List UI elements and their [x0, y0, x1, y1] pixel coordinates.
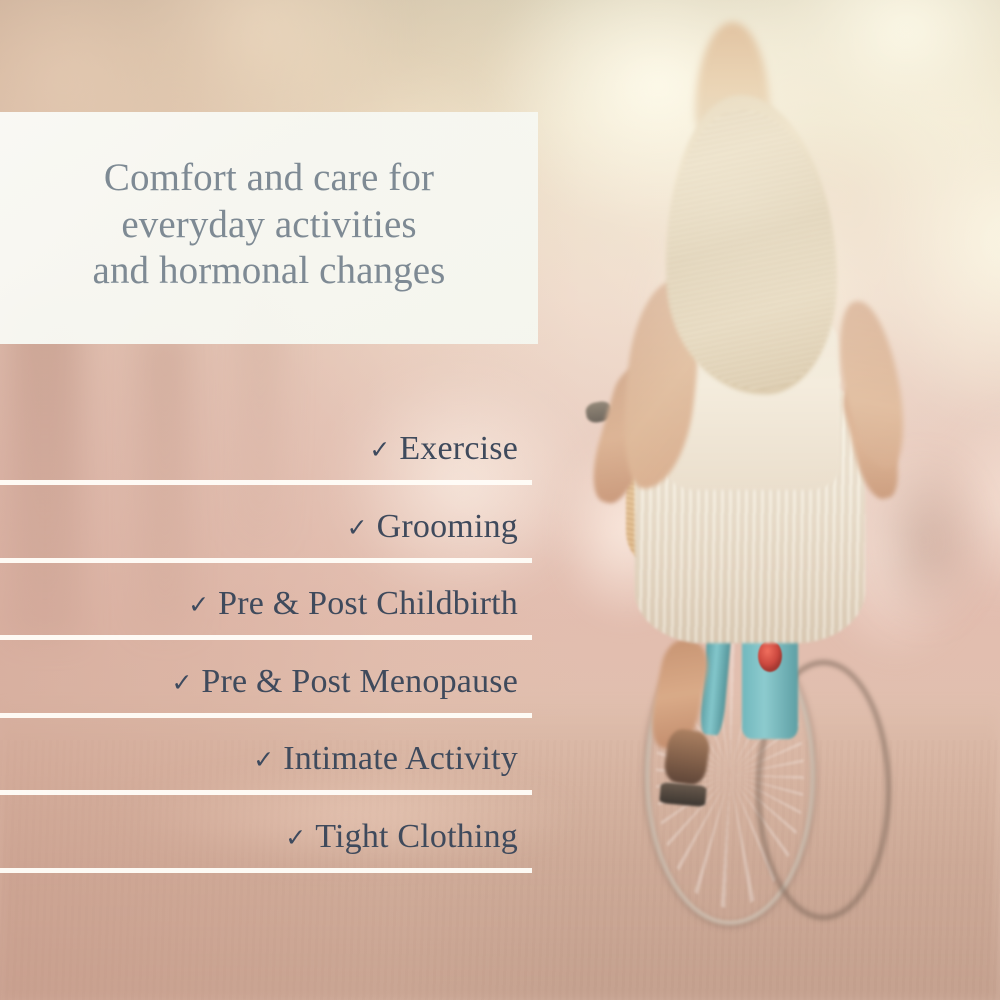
- list-divider: [0, 790, 532, 795]
- check-icon: ✓: [369, 437, 390, 462]
- list-item-label: Intimate Activity: [283, 742, 518, 776]
- benefits-checklist: ✓ Exercise ✓ Grooming ✓ Pre & Post Child…: [0, 432, 540, 897]
- headline-line-1: Comfort and care for: [104, 156, 434, 199]
- headline-line-2: everyday activities: [121, 203, 416, 246]
- list-item-label: Exercise: [399, 432, 518, 466]
- list-item: ✓ Exercise: [0, 432, 540, 510]
- list-divider: [0, 868, 532, 873]
- list-divider: [0, 635, 532, 640]
- bicycle-pedal: [659, 782, 707, 807]
- check-icon: ✓: [253, 747, 274, 772]
- check-icon: ✓: [285, 825, 306, 850]
- check-icon: ✓: [347, 515, 368, 540]
- page-title: Comfort and care for everyday activities…: [93, 155, 446, 295]
- list-divider: [0, 480, 532, 485]
- check-icon: ✓: [188, 592, 209, 617]
- list-item-label: Grooming: [377, 510, 518, 544]
- list-item: ✓ Pre & Post Menopause: [0, 665, 540, 743]
- list-item: ✓ Grooming: [0, 510, 540, 588]
- list-item: ✓ Pre & Post Childbirth: [0, 587, 540, 665]
- list-item-label: Tight Clothing: [315, 820, 518, 854]
- list-item: ✓ Intimate Activity: [0, 742, 540, 820]
- bicycle-reflector: [758, 640, 782, 672]
- headline-line-3: and hormonal changes: [93, 249, 446, 292]
- check-icon: ✓: [171, 670, 192, 695]
- list-item-label: Pre & Post Menopause: [201, 665, 518, 699]
- list-divider: [0, 558, 532, 563]
- headline-card: Comfort and care for everyday activities…: [0, 112, 538, 344]
- list-divider: [0, 713, 532, 718]
- promo-graphic: Comfort and care for everyday activities…: [0, 0, 1000, 1000]
- list-item-label: Pre & Post Childbirth: [218, 587, 518, 621]
- list-item: ✓ Tight Clothing: [0, 820, 540, 898]
